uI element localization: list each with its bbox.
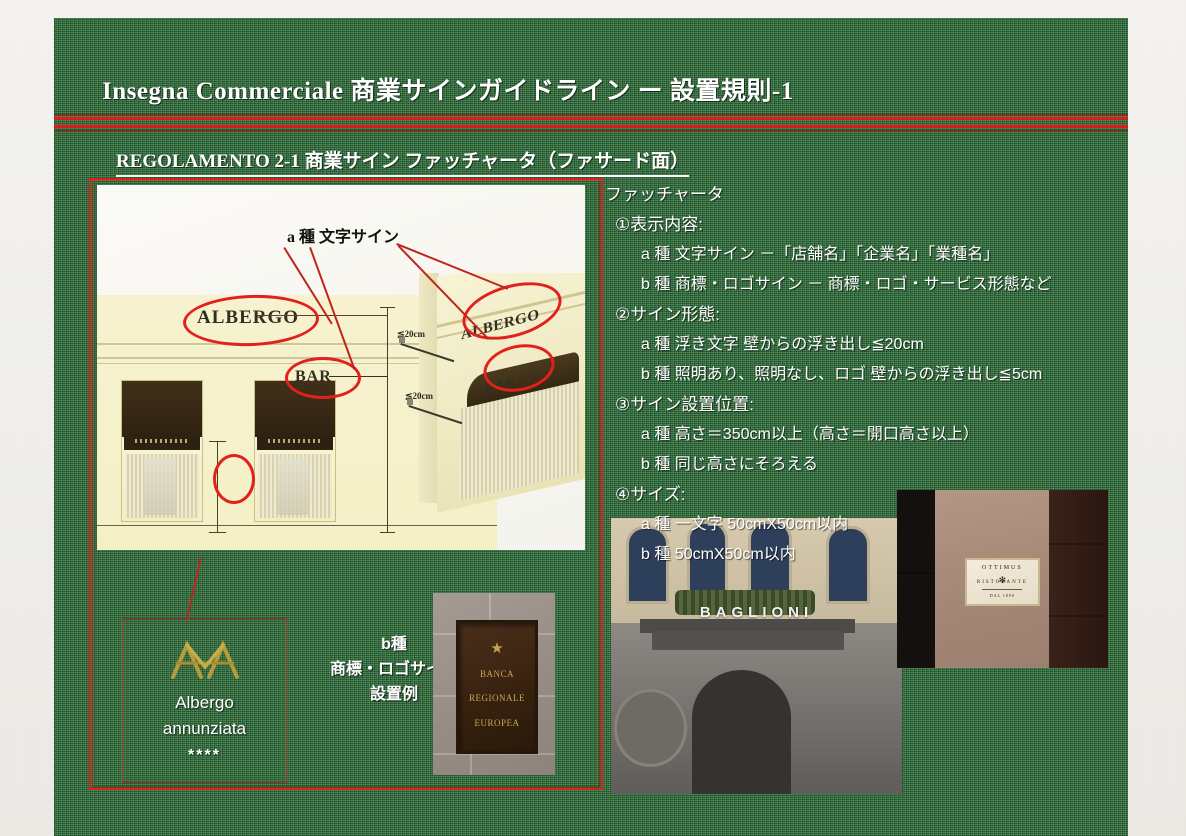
shop-sign-band-right bbox=[257, 437, 334, 450]
title-rule-upper bbox=[54, 117, 1128, 120]
facade-diagram: ALBERGO BAR ALBERGO BAR ≦20cm ≦20cm bbox=[97, 185, 585, 550]
cornice-band-3 bbox=[97, 363, 427, 364]
title-rule-lower bbox=[54, 125, 1128, 128]
logo-name-line-1: Albergo bbox=[123, 693, 286, 713]
banca-line-1: BANCA bbox=[459, 669, 535, 679]
section-subtitle: REGOLAMENTO 2-1 商業サイン ファッチャータ（ファサード面） bbox=[116, 146, 689, 177]
pillar-brick-joint-3 bbox=[1049, 615, 1108, 617]
spec-section-1-item-2: b 種 商標・ロゴサイン － 商標・ロゴ・サービス形態など bbox=[641, 270, 1105, 294]
stone-joint-5 bbox=[470, 753, 472, 775]
shop-glass-right bbox=[277, 457, 309, 516]
spec-section-2-title: ②サイン形態: bbox=[615, 300, 1105, 325]
diagram-callout-label: a 種 文字サイン bbox=[287, 223, 399, 247]
banca-line-2: REGIONALE bbox=[459, 693, 535, 703]
shop-glass-left bbox=[144, 457, 176, 516]
logo-star-rating: **** bbox=[123, 747, 286, 765]
banca-plaque: ★ BANCA REGIONALE EUROPEA bbox=[456, 620, 538, 753]
shopfront-left bbox=[121, 380, 203, 522]
pillar-plate-divider bbox=[982, 589, 1022, 590]
slide: Insegna Commerciale 商業サインガイドライン ー 設置規則-1… bbox=[54, 18, 1128, 836]
spec-section-3-item-2: b 種 同じ高さにそろえる bbox=[641, 450, 1105, 474]
logo-example-panel: Albergo annunziata **** bbox=[122, 618, 287, 783]
spec-heading: ファッチャータ bbox=[605, 180, 1105, 205]
cornice-band-2 bbox=[97, 357, 427, 359]
dimension-marker-top bbox=[399, 337, 405, 343]
baglioni-rose-window bbox=[614, 689, 687, 767]
shop-sign-band-left bbox=[124, 437, 201, 450]
spec-section-1-title: ①表示内容: bbox=[615, 210, 1105, 235]
spec-section-4-item-1: a 種 一文字 50cmX50cm以内 bbox=[641, 510, 1105, 534]
height-dimension-line bbox=[387, 307, 388, 532]
shop-awning-left bbox=[122, 381, 202, 437]
title-rule-hairline-top bbox=[54, 114, 1128, 115]
spec-section-4-item-2: b 種 50cmX50cm以内 bbox=[641, 540, 1105, 564]
spec-section-4-title: ④サイズ: bbox=[615, 480, 1105, 505]
annotation-ellipse-bar bbox=[285, 357, 361, 399]
spec-section-2-item-1: a 種 浮き文字 壁からの浮き出し≦20cm bbox=[641, 330, 1105, 354]
baglioni-entrance-arch bbox=[692, 670, 791, 794]
pillar-plate-line-3: DAL 1890 bbox=[967, 593, 1039, 598]
door-dimension-tick-bottom bbox=[209, 532, 226, 533]
axo-return-wall bbox=[419, 273, 439, 503]
banca-star-icon: ★ bbox=[490, 641, 503, 656]
pillar-plate-emblem-icon: ✻ bbox=[999, 575, 1007, 586]
spec-section-3-title: ③サイン設置位置: bbox=[615, 390, 1105, 415]
banca-line-3: EUROPEA bbox=[459, 718, 535, 728]
page-title: Insegna Commerciale 商業サインガイドライン ー 設置規則-1 bbox=[102, 71, 794, 107]
height-dimension-tick-bottom bbox=[380, 532, 395, 533]
specification-text-column: ファッチャータ ①表示内容: a 種 文字サイン －「店舗名」「企業名」「業種名… bbox=[605, 180, 1105, 570]
door-dimension-tick-top bbox=[209, 441, 226, 442]
baglioni-canopy bbox=[652, 631, 844, 650]
dimension-marker-bottom bbox=[407, 399, 413, 405]
spec-section-1-item-1: a 種 文字サイン －「店舗名」「企業名」「業種名」 bbox=[641, 240, 1105, 264]
logo-name-line-2: annunziata bbox=[123, 719, 286, 739]
albergo-monogram-icon bbox=[167, 637, 243, 684]
title-rule-hairline-bottom bbox=[54, 130, 1128, 131]
shopfront-right bbox=[254, 380, 336, 522]
spec-section-2-item-2: b 種 照明あり、照明なし、ロゴ 壁からの浮き出し≦5cm bbox=[641, 360, 1105, 384]
spec-section-3-item-1: a 種 高さ＝350cm以上（高さ＝開口高さ以上） bbox=[641, 420, 1105, 444]
photo-banca-plaque: ★ BANCA REGIONALE EUROPEA bbox=[433, 593, 555, 775]
annotation-ellipse-logo-plate bbox=[213, 454, 255, 504]
height-dimension-tick-top bbox=[380, 307, 395, 308]
pillar-brick-joint-1 bbox=[897, 572, 935, 574]
